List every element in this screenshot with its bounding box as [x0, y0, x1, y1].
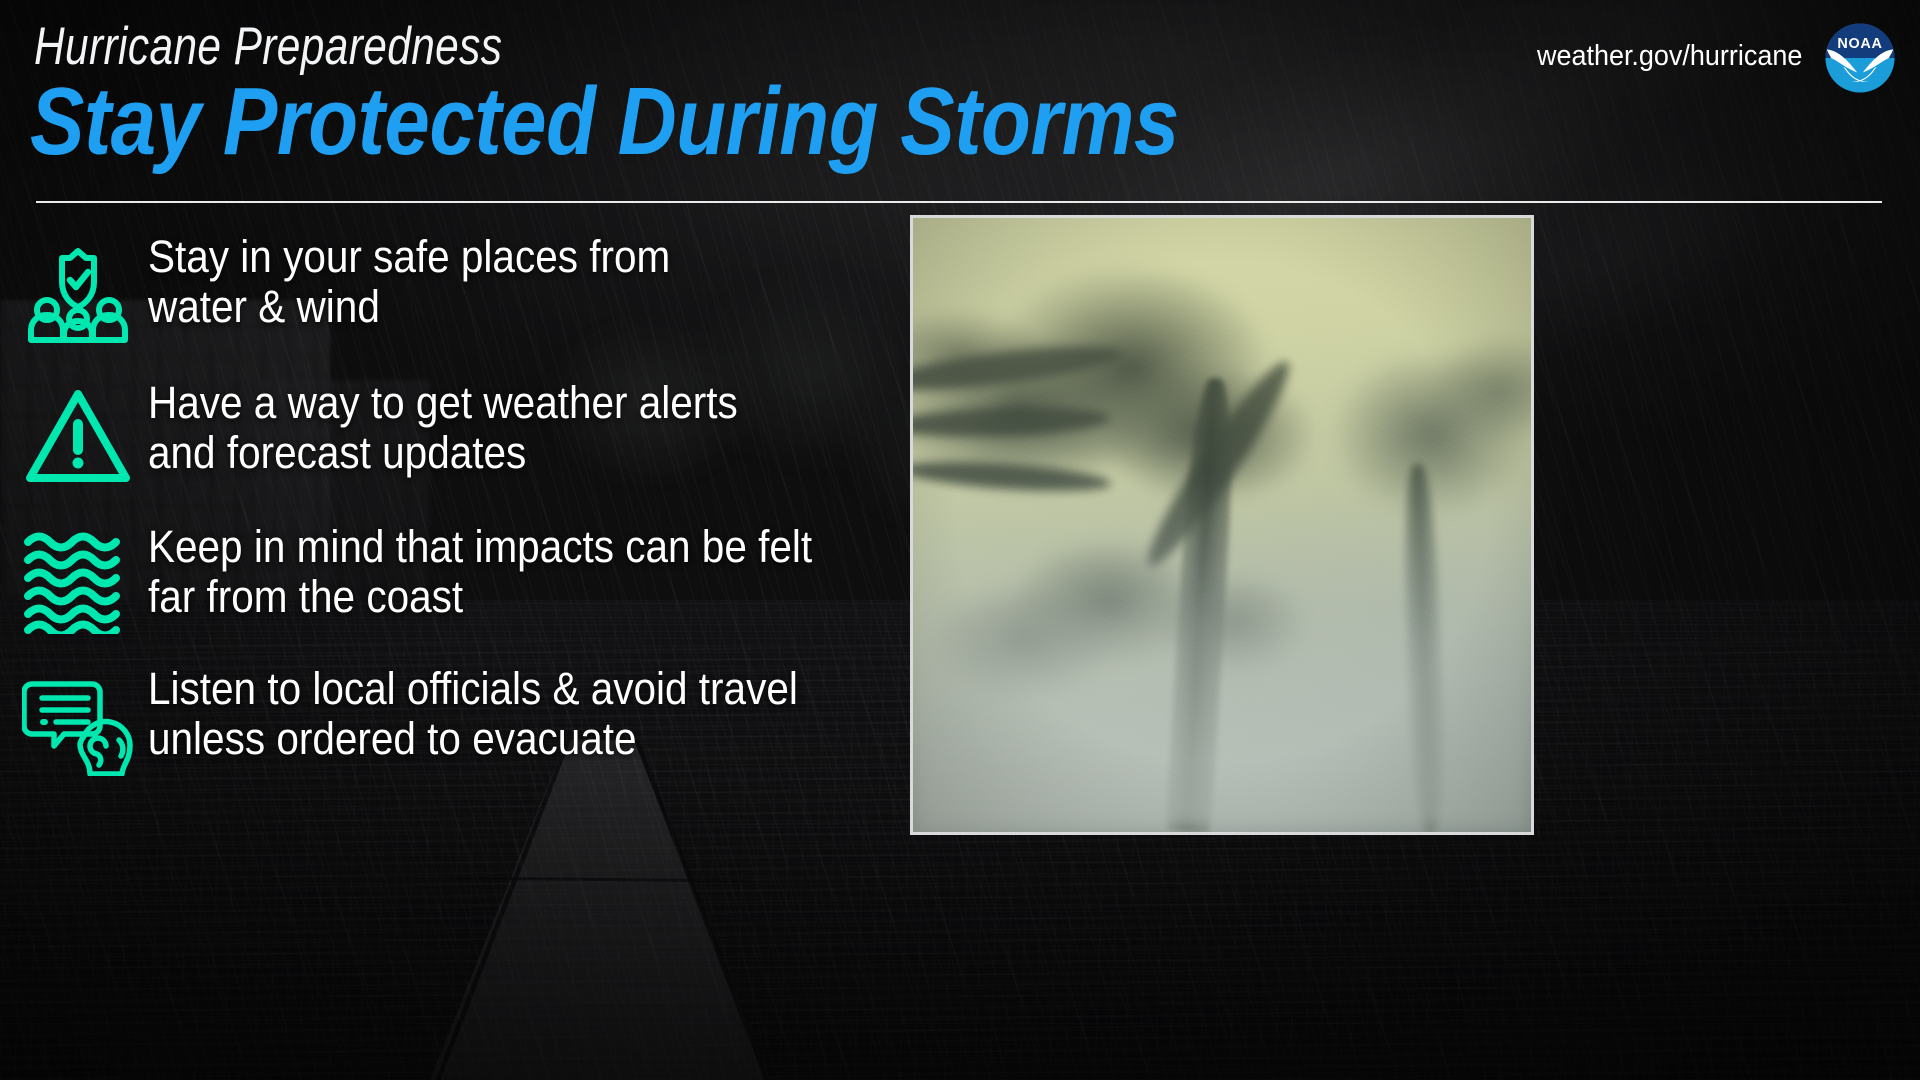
list-item-label: Stay in your safe places from water & wi…: [148, 232, 832, 331]
list-item-label: Have a way to get weather alerts and for…: [148, 378, 832, 477]
speech-bubble-ear-icon: [22, 668, 134, 776]
header: Hurricane Preparedness Stay Protected Du…: [0, 0, 1920, 215]
palm-trees-in-hurricane-wind-photo: [910, 215, 1534, 835]
list-item-label: Listen to local officials & avoid travel…: [148, 664, 832, 763]
water-waves-icon: [22, 526, 134, 634]
website-url[interactable]: weather.gov/hurricane: [1537, 40, 1802, 73]
photo-vignette: [913, 218, 1531, 832]
noaa-logo: NOAA: [1824, 22, 1896, 94]
page-title: Stay Protected During Storms: [30, 72, 1179, 173]
noaa-logo-text: NOAA: [1837, 36, 1882, 52]
header-divider: [36, 201, 1882, 203]
list-item-label: Keep in mind that impacts can be felt fa…: [148, 522, 832, 621]
warning-triangle-icon: [22, 382, 134, 490]
family-shield-icon: [22, 236, 134, 344]
